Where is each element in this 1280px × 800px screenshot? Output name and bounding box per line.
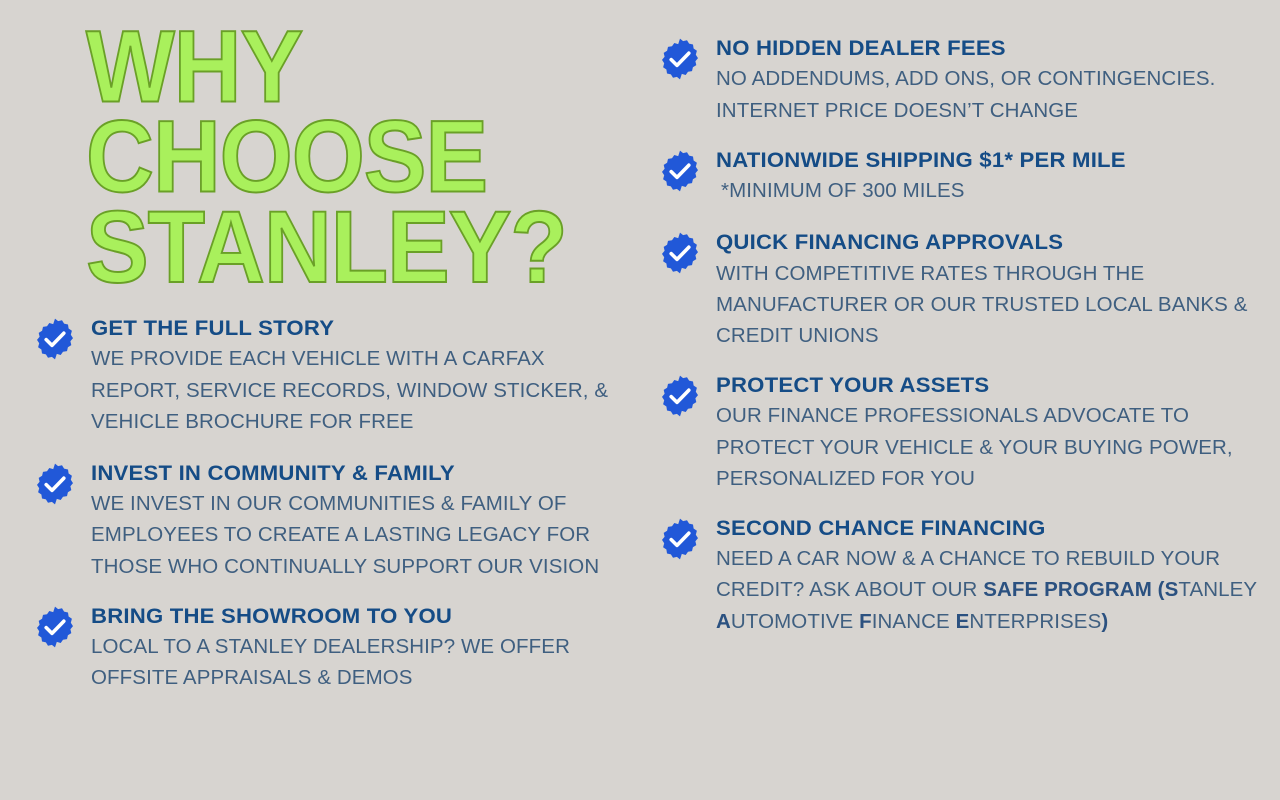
check-badge-icon — [658, 231, 702, 275]
check-badge-icon — [658, 374, 702, 418]
feature-quick-financing-approvals: QUICK FINANCING APPROVALS WITH COMPETITI… — [658, 230, 1258, 351]
feature-title: NATIONWIDE SHIPPING $1* PER MILE — [716, 148, 1274, 173]
feature-second-chance-financing: SECOND CHANCE FINANCING NEED A CAR NOW &… — [658, 516, 1258, 637]
left-column: WHY CHOOSE STANLEY? GET THE FULL STORY W… — [0, 0, 640, 800]
page-title: WHY CHOOSE STANLEY? — [86, 22, 668, 292]
feature-title: NO HIDDEN DEALER FEES — [716, 36, 1274, 61]
check-badge-icon — [33, 317, 77, 361]
headline-line-3: STANLEY? — [86, 202, 668, 292]
feature-bring-the-showroom-to-you: BRING THE SHOWROOM TO YOU LOCAL TO A STA… — [33, 604, 633, 694]
feature-body: WE INVEST IN OUR COMMUNITIES & FAMILY OF… — [91, 488, 633, 581]
feature-title: SECOND CHANCE FINANCING — [716, 516, 1274, 541]
feature-protect-your-assets: PROTECT YOUR ASSETS OUR FINANCE PROFESSI… — [658, 373, 1258, 494]
right-feature-list: NO HIDDEN DEALER FEES NO ADDENDUMS, ADD … — [658, 36, 1258, 637]
why-choose-stanley-graphic: WHY CHOOSE STANLEY? GET THE FULL STORY W… — [0, 0, 1280, 800]
check-badge-icon — [33, 605, 77, 649]
feature-title: PROTECT YOUR ASSETS — [716, 373, 1274, 398]
feature-title: QUICK FINANCING APPROVALS — [716, 230, 1274, 255]
feature-get-the-full-story: GET THE FULL STORY WE PROVIDE EACH VEHIC… — [33, 316, 633, 437]
check-badge-icon — [658, 37, 702, 81]
feature-no-hidden-dealer-fees: NO HIDDEN DEALER FEES NO ADDENDUMS, ADD … — [658, 36, 1258, 126]
check-badge-icon — [658, 517, 702, 561]
feature-body: LOCAL TO A STANLEY DEALERSHIP? WE OFFER … — [91, 631, 633, 693]
feature-nationwide-shipping: NATIONWIDE SHIPPING $1* PER MILE *MINIMU… — [658, 148, 1258, 207]
feature-title: INVEST IN COMMUNITY & FAMILY — [91, 461, 649, 486]
feature-body: WITH COMPETITIVE RATES THROUGH THE MANUF… — [716, 258, 1258, 351]
feature-body: NO ADDENDUMS, ADD ONS, OR CONTINGENCIES.… — [716, 63, 1258, 125]
check-badge-icon — [33, 462, 77, 506]
feature-title: GET THE FULL STORY — [91, 316, 649, 341]
feature-body: NEED A CAR NOW & A CHANCE TO REBUILD YOU… — [716, 543, 1258, 636]
feature-title: BRING THE SHOWROOM TO YOU — [91, 604, 649, 629]
feature-body: OUR FINANCE PROFESSIONALS ADVOCATE TO PR… — [716, 400, 1258, 493]
feature-body: WE PROVIDE EACH VEHICLE WITH A CARFAX RE… — [91, 343, 633, 436]
check-badge-icon — [658, 149, 702, 193]
left-feature-list: GET THE FULL STORY WE PROVIDE EACH VEHIC… — [33, 316, 633, 693]
feature-invest-in-community-and-family: INVEST IN COMMUNITY & FAMILY WE INVEST I… — [33, 461, 633, 582]
feature-body: *MINIMUM OF 300 MILES — [716, 175, 1258, 206]
